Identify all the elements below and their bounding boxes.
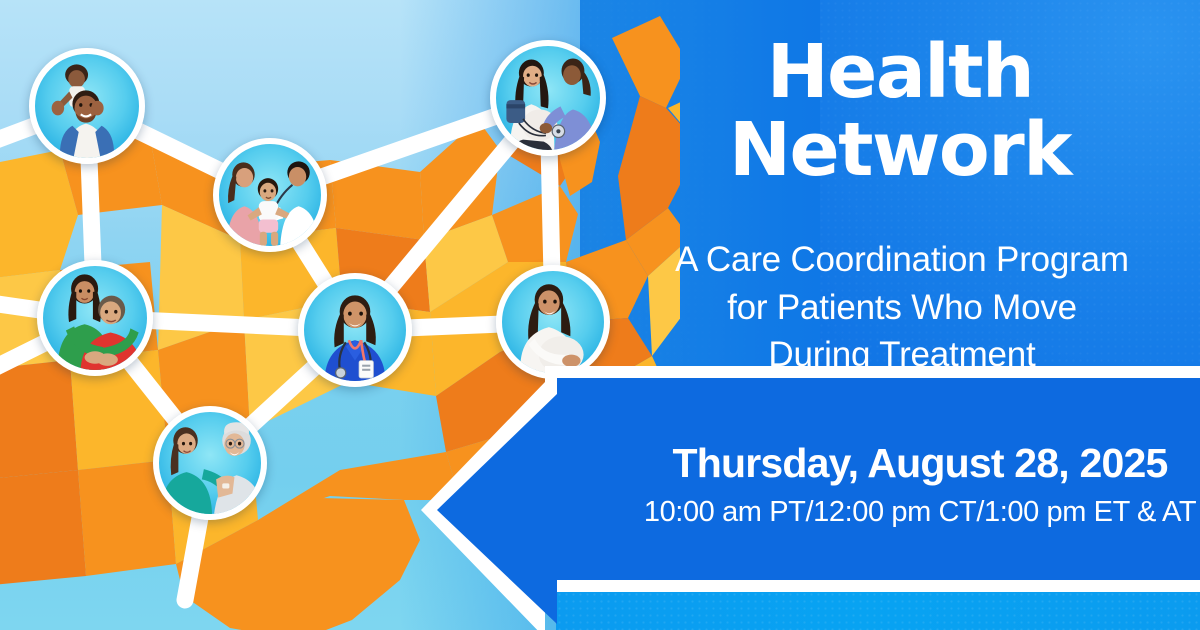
- node-prenatal-visit: [490, 40, 606, 156]
- prenatal-blood-pressure-check-photo: [496, 46, 600, 150]
- event-date: Thursday, August 28, 2025: [640, 440, 1200, 487]
- subtitle-line-2: for Patients Who Move: [727, 288, 1077, 327]
- node-two-women: [37, 260, 153, 376]
- health-network-promo-banner: Health Network A Care Coordination Progr…: [0, 0, 1200, 630]
- subtitle: A Care Coordination Program for Patients…: [612, 236, 1192, 379]
- event-time: 10:00 am PT/12:00 pm CT/1:00 pm ET & AT: [640, 496, 1200, 529]
- subtitle-line-1: A Care Coordination Program: [675, 240, 1129, 279]
- node-expecting-mother: [496, 265, 610, 379]
- expecting-mother-photo: [502, 271, 604, 373]
- title-line-1: Health: [767, 29, 1033, 115]
- node-vaccination: [153, 406, 267, 520]
- text-content-area: Health Network A Care Coordination Progr…: [600, 0, 1200, 630]
- node-father-child: [29, 48, 145, 164]
- page-title: Health Network: [600, 34, 1200, 189]
- smiling-nurse-photo: [304, 279, 406, 381]
- daughter-and-elder-mother-photo: [43, 266, 147, 370]
- node-nurse: [298, 273, 412, 387]
- event-datetime: Thursday, August 28, 2025 10:00 am PT/12…: [640, 440, 1200, 529]
- subtitle-line-3: During Treatment: [768, 335, 1035, 374]
- node-baby-checkup: [213, 138, 327, 252]
- mother-baby-pediatrician-photo: [219, 144, 321, 246]
- father-and-child-photo: [35, 54, 139, 158]
- nurse-vaccinating-senior-photo: [159, 412, 261, 514]
- title-line-2: Network: [600, 112, 1200, 190]
